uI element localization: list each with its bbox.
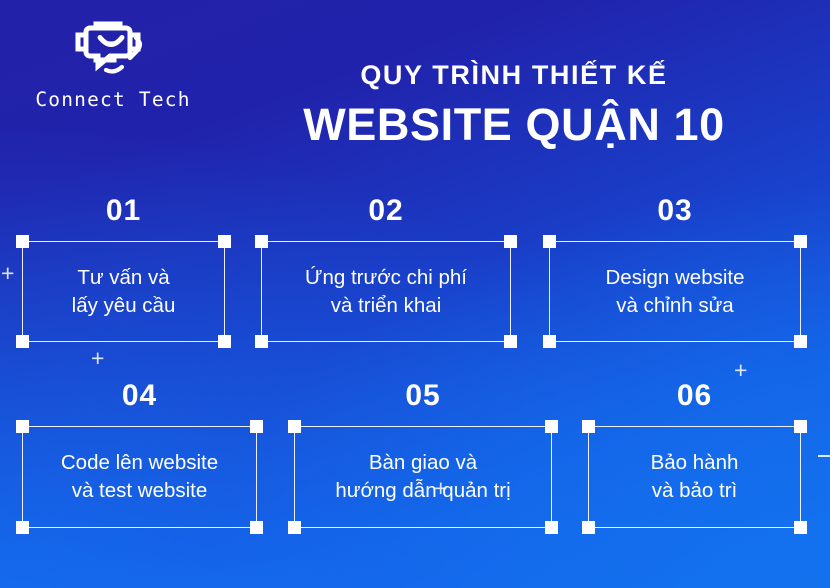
step-card-01: 01 Tư vấn và lấy yêu cầu: [22, 196, 225, 342]
step-number: 05: [294, 381, 552, 411]
step-number: 04: [22, 381, 257, 411]
resize-handle-top-left[interactable]: [16, 420, 29, 433]
brand-name: Connect Tech: [24, 88, 202, 111]
plus-marker-right-edge-clipped: [818, 455, 830, 457]
resize-handle-top-left[interactable]: [288, 420, 301, 433]
infographic-canvas: Connect Tech QUY TRÌNH THIẾT KẾ WEBSITE …: [0, 0, 830, 588]
step-label: Design website và chỉnh sửa: [597, 264, 752, 319]
resize-handle-top-right[interactable]: [545, 420, 558, 433]
resize-handle-bottom-right[interactable]: [504, 335, 517, 348]
header-block: QUY TRÌNH THIẾT KẾ WEBSITE QUẬN 10: [214, 60, 814, 151]
step-label: Ứng trước chi phí và triển khai: [297, 264, 475, 319]
resize-handle-top-left[interactable]: [16, 235, 29, 248]
resize-handle-top-left[interactable]: [255, 235, 268, 248]
resize-handle-bottom-left[interactable]: [543, 335, 556, 348]
resize-handle-bottom-left[interactable]: [255, 335, 268, 348]
resize-handle-bottom-right[interactable]: [794, 335, 807, 348]
step-box[interactable]: Code lên website và test website: [22, 426, 257, 528]
header-subtitle: QUY TRÌNH THIẾT KẾ: [214, 60, 814, 91]
step-number: 02: [261, 196, 511, 226]
resize-handle-bottom-left[interactable]: [16, 335, 29, 348]
step-card-04: 04 Code lên website và test website: [22, 381, 257, 528]
resize-handle-bottom-right[interactable]: [250, 521, 263, 534]
step-number: 01: [22, 196, 225, 226]
step-box[interactable]: Design website và chỉnh sửa: [549, 241, 801, 342]
step-card-06: 06 Bảo hành và bảo trì: [588, 381, 801, 528]
step-card-03: 03 Design website và chỉnh sửa: [549, 196, 801, 342]
resize-handle-top-right[interactable]: [794, 235, 807, 248]
plus-marker-under-step-03: +: [734, 359, 747, 382]
chat-bubble-smile-icon: [70, 18, 156, 80]
step-box[interactable]: Bảo hành và bảo trì: [588, 426, 801, 528]
step-label: Code lên website và test website: [53, 449, 226, 504]
step-card-02: 02 Ứng trước chi phí và triển khai: [261, 196, 511, 342]
step-label: Tư vấn và lấy yêu cầu: [64, 264, 184, 319]
brand-logo: Connect Tech: [24, 18, 202, 111]
resize-handle-bottom-left[interactable]: [16, 521, 29, 534]
step-number: 03: [549, 196, 801, 226]
resize-handle-top-right[interactable]: [250, 420, 263, 433]
resize-handle-top-right[interactable]: [794, 420, 807, 433]
step-box[interactable]: Bàn giao và hướng dẫn quản trị: [294, 426, 552, 528]
resize-handle-top-left[interactable]: [543, 235, 556, 248]
resize-handle-bottom-right[interactable]: [218, 335, 231, 348]
resize-handle-top-right[interactable]: [504, 235, 517, 248]
resize-handle-bottom-right[interactable]: [545, 521, 558, 534]
step-number: 06: [588, 381, 801, 411]
step-label: Bảo hành và bảo trì: [643, 449, 747, 504]
step-box[interactable]: Ứng trước chi phí và triển khai: [261, 241, 511, 342]
resize-handle-bottom-left[interactable]: [288, 521, 301, 534]
step-label: Bàn giao và hướng dẫn quản trị: [327, 449, 518, 504]
resize-handle-top-left[interactable]: [582, 420, 595, 433]
step-box[interactable]: Tư vấn và lấy yêu cầu: [22, 241, 225, 342]
plus-marker-under-step-01: +: [91, 347, 104, 370]
page-title: WEBSITE QUẬN 10: [214, 98, 814, 151]
resize-handle-top-right[interactable]: [218, 235, 231, 248]
step-card-05: 05 Bàn giao và hướng dẫn quản trị: [294, 381, 552, 528]
resize-handle-bottom-right[interactable]: [794, 521, 807, 534]
plus-marker-left: +: [1, 262, 14, 285]
resize-handle-bottom-left[interactable]: [582, 521, 595, 534]
